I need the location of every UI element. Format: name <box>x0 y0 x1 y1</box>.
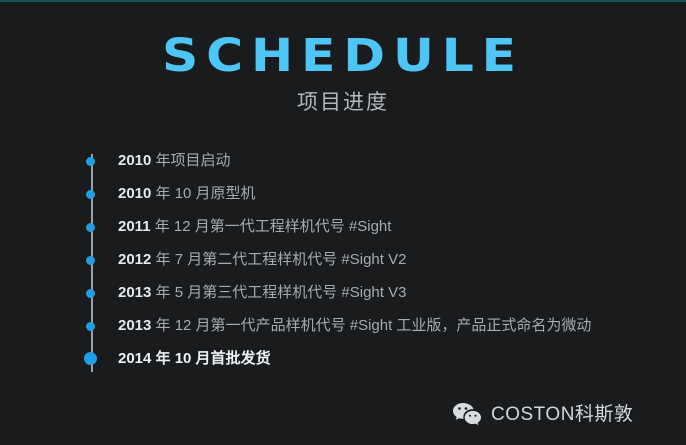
timeline-dot-icon <box>86 256 95 265</box>
timeline-item-detail: 年 12 月第一代工程样机代号 #Sight <box>151 218 392 235</box>
timeline-item: 2010 年 10 月原型机 <box>78 183 678 216</box>
timeline-item-label: 2010 年 10 月原型机 <box>118 183 256 205</box>
timeline-item-label: 2012 年 7 月第二代工程样机代号 #Sight V2 <box>118 249 406 271</box>
timeline-item: 2012 年 7 月第二代工程样机代号 #Sight V2 <box>78 249 678 282</box>
timeline-item: 2013 年 12 月第一代产品样机代号 #Sight 工业版，产品正式命名为微… <box>78 315 678 348</box>
timeline-item-detail: 年项目启动 <box>151 152 230 169</box>
timeline-item-label: 2010 年项目启动 <box>118 150 231 172</box>
timeline-item-year: 2010 <box>118 152 151 169</box>
timeline-dot-icon <box>86 289 95 298</box>
timeline-item-detail: 年 5 月第三代工程样机代号 #Sight V3 <box>151 284 406 301</box>
timeline-dot-icon-large <box>84 352 97 365</box>
timeline-item: 2011 年 12 月第一代工程样机代号 #Sight <box>78 216 678 249</box>
slide-header: SCHEDULE 项目进度 <box>0 32 686 116</box>
timeline-item-year: 2011 <box>118 218 151 235</box>
timeline-item-label: 2013 年 5 月第三代工程样机代号 #Sight V3 <box>118 282 406 304</box>
timeline-item: 2013 年 5 月第三代工程样机代号 #Sight V3 <box>78 282 678 315</box>
timeline-dot-icon <box>86 157 95 166</box>
timeline-item-current: 2014 年 10 月首批发货 <box>78 348 678 381</box>
wechat-icon <box>452 402 482 428</box>
timeline-item: 2010 年项目启动 <box>78 150 678 183</box>
timeline-item-year: 2013 <box>118 284 151 301</box>
timeline-item-detail: 年 7 月第二代工程样机代号 #Sight V2 <box>151 251 406 268</box>
brand-footer: COSTON科斯敦 <box>452 402 633 428</box>
timeline-item-detail: 年 10 月原型机 <box>151 185 255 202</box>
timeline-item-year: 2014 <box>118 350 151 367</box>
top-accent-rule <box>0 0 686 2</box>
timeline-item-year: 2012 <box>118 251 151 268</box>
timeline-dot-icon <box>86 190 95 199</box>
slide-canvas: SCHEDULE 项目进度 2010 年项目启动 2010 年 10 月原型机 … <box>0 0 686 445</box>
timeline-item-detail: 年 12 月第一代产品样机代号 #Sight 工业版，产品正式命名为微动 <box>151 317 591 334</box>
page-subtitle: 项目进度 <box>0 90 686 116</box>
timeline-item-label: 2011 年 12 月第一代工程样机代号 #Sight <box>118 216 391 238</box>
timeline-dot-icon <box>86 223 95 232</box>
timeline-item-year: 2010 <box>118 185 151 202</box>
timeline-item-detail: 年 10 月首批发货 <box>151 350 270 367</box>
page-title: SCHEDULE <box>0 32 686 80</box>
timeline-item-label: 2013 年 12 月第一代产品样机代号 #Sight 工业版，产品正式命名为微… <box>118 315 591 337</box>
timeline: 2010 年项目启动 2010 年 10 月原型机 2011 年 12 月第一代… <box>78 150 678 381</box>
brand-name: COSTON科斯敦 <box>491 403 633 427</box>
timeline-dot-icon <box>86 322 95 331</box>
timeline-item-label: 2014 年 10 月首批发货 <box>118 348 271 370</box>
timeline-item-year: 2013 <box>118 317 151 334</box>
